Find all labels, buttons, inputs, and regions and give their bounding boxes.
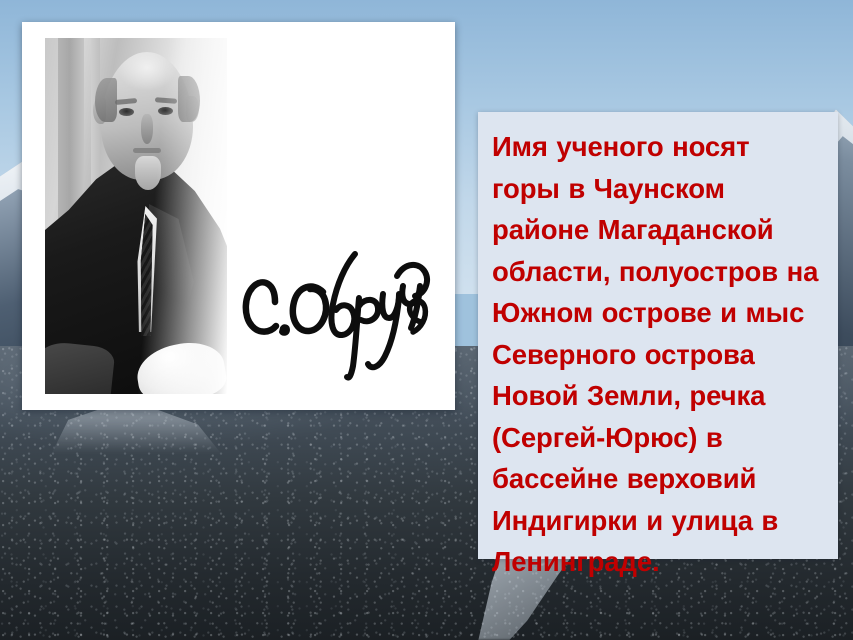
slide-body-text: Имя ученого носят горы в Чаунском районе… <box>492 126 822 583</box>
scientist-signature <box>237 236 433 382</box>
portrait-shirt <box>131 206 167 332</box>
portrait-hair-left <box>95 78 117 122</box>
portrait-nose <box>141 114 153 144</box>
portrait-chair <box>45 340 116 394</box>
portrait-ear-left <box>93 98 106 124</box>
portrait-eyebrow-left <box>115 98 137 105</box>
portrait-goatee <box>135 156 161 190</box>
portrait-wall-seam-secondary <box>91 38 100 206</box>
slide-text-panel: Имя ученого носят горы в Чаунском районе… <box>478 112 838 559</box>
portrait-photo-card <box>22 22 455 410</box>
portrait-eyebrow-right <box>155 97 177 104</box>
portrait-eye-right <box>158 107 173 115</box>
portrait-tie <box>133 214 161 336</box>
portrait-photo-card-inner <box>45 38 439 394</box>
portrait-hands <box>133 337 227 394</box>
presentation-slide: Имя ученого носят горы в Чаунском районе… <box>0 0 853 640</box>
scientist-portrait-photo <box>45 38 227 394</box>
portrait-suit <box>45 158 227 394</box>
portrait-wall-seam <box>58 38 84 394</box>
portrait-eye-left <box>119 108 134 116</box>
portrait-hair-right <box>178 76 200 122</box>
portrait-mouth <box>133 148 161 153</box>
portrait-ear-right <box>186 96 199 122</box>
portrait-suit-lapel <box>149 204 213 354</box>
portrait-head <box>101 52 193 180</box>
